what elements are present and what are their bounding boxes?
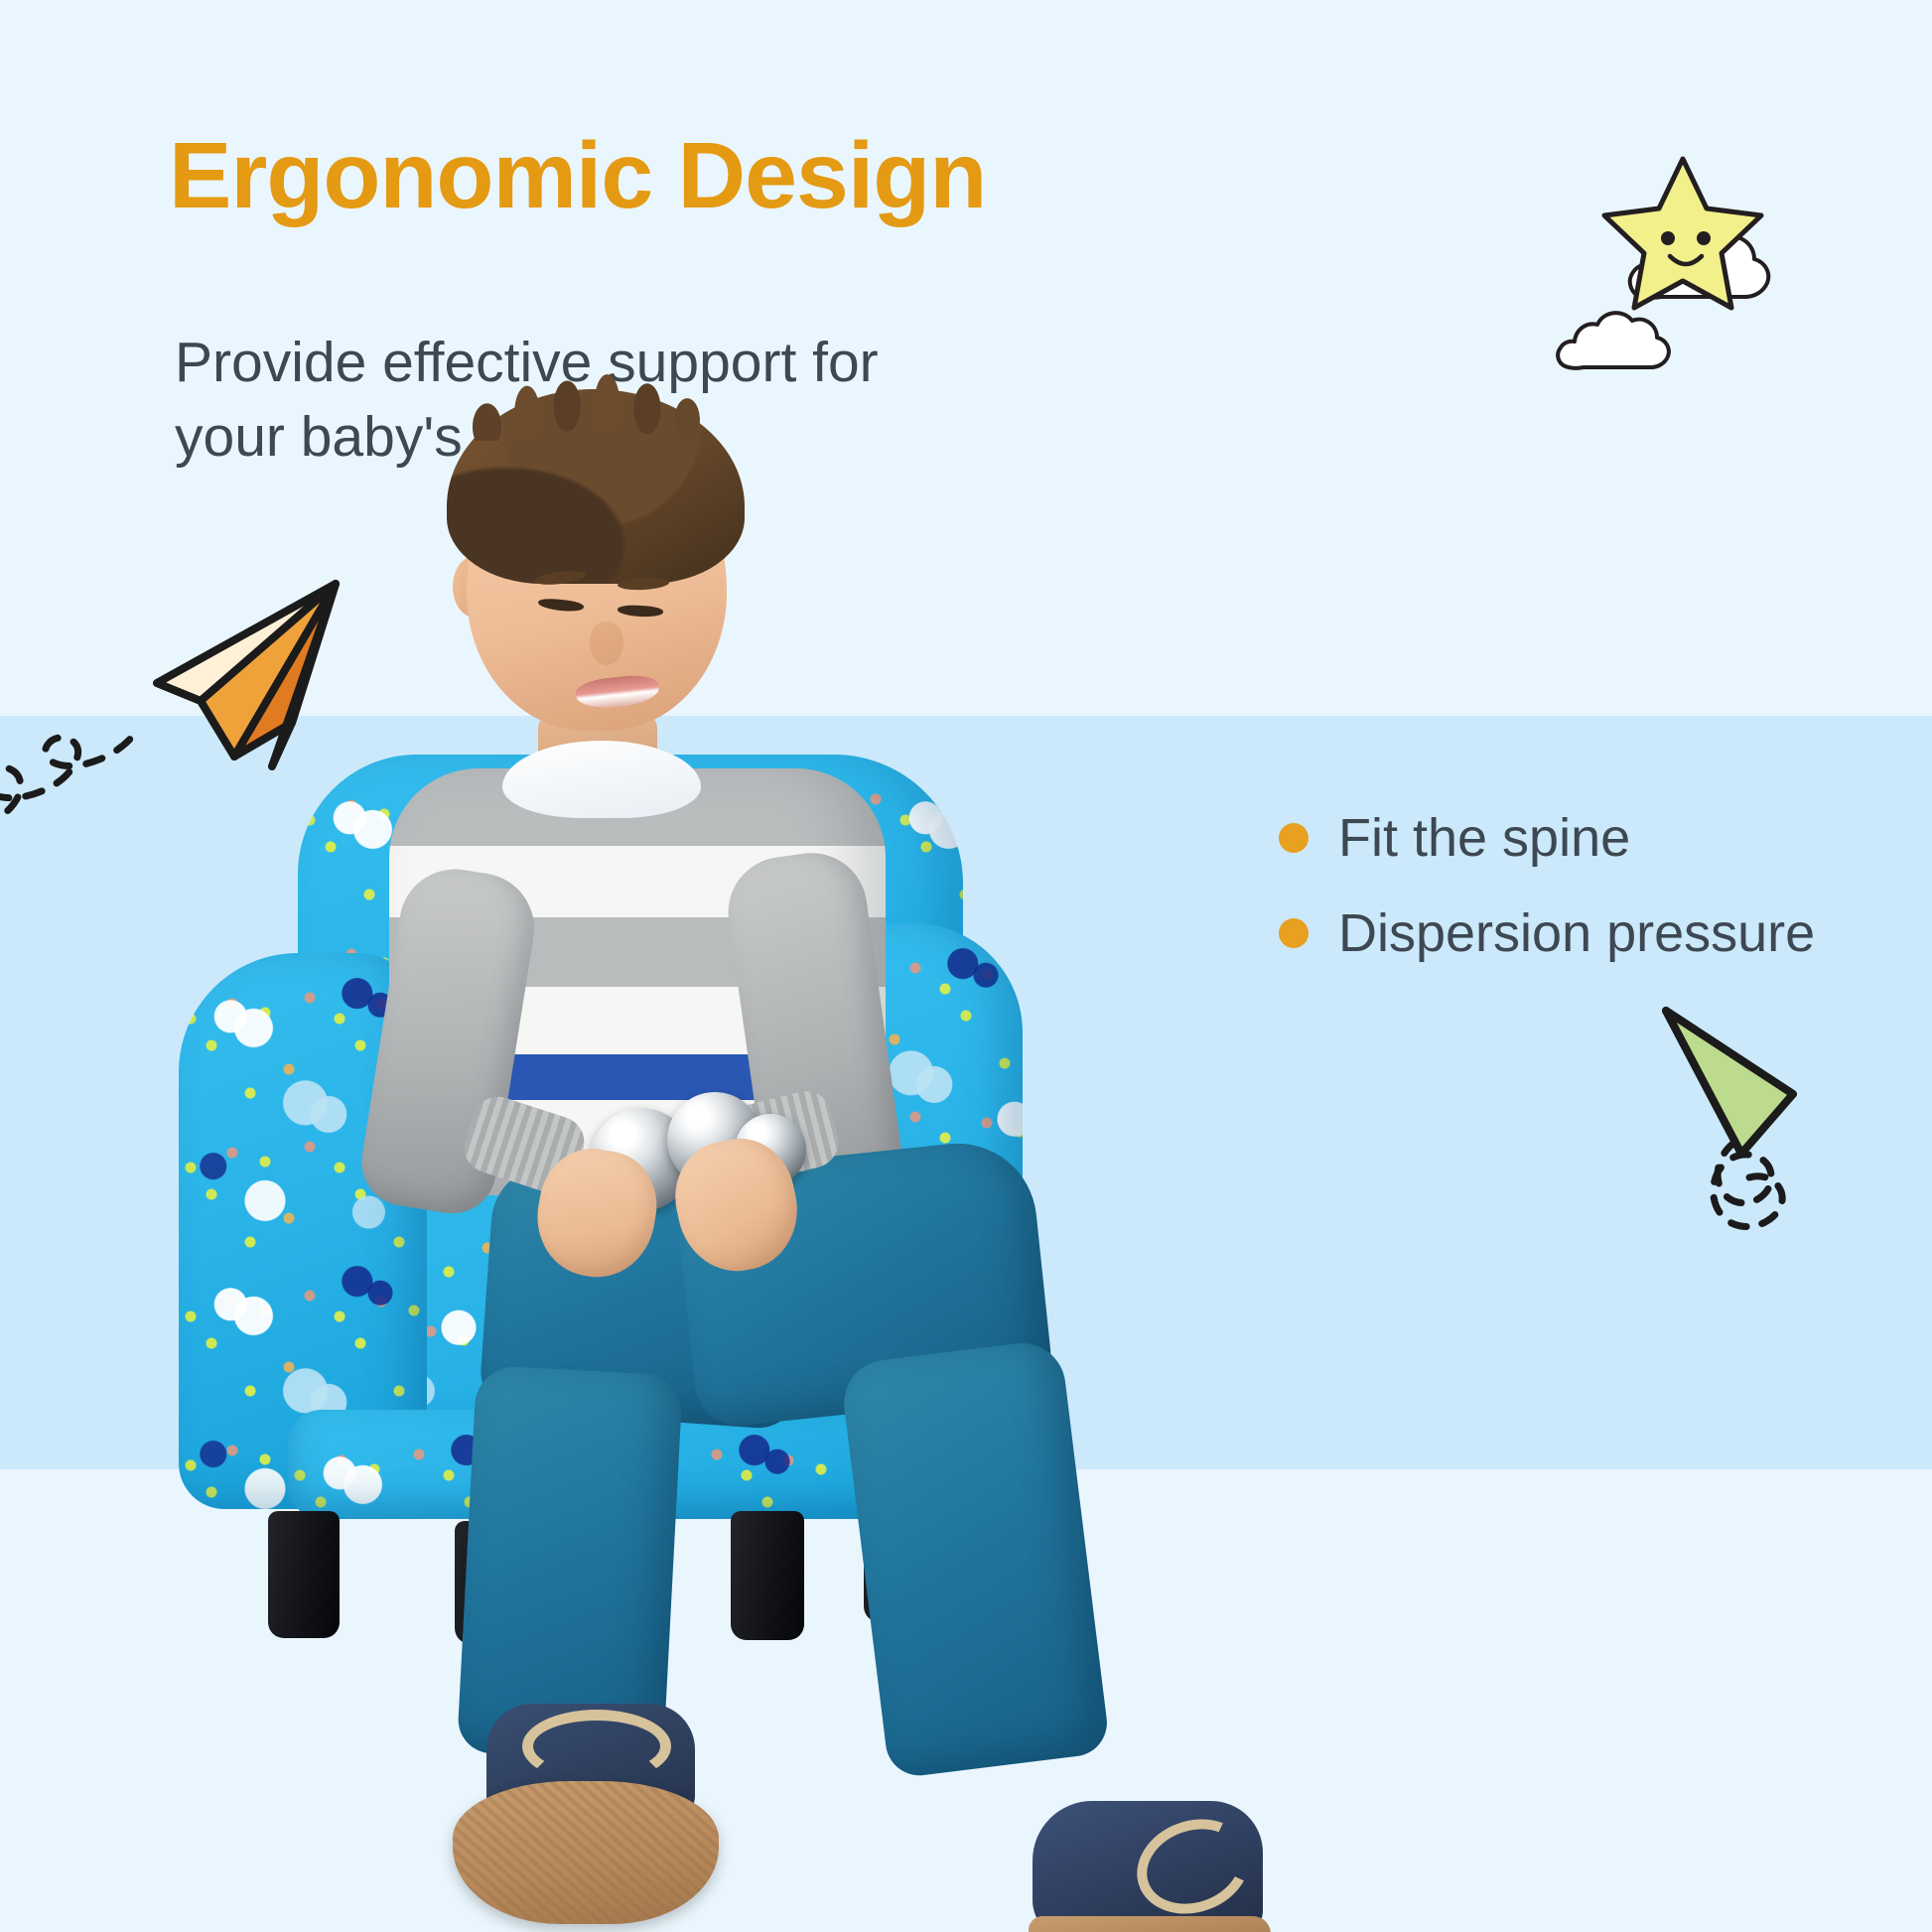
bullet-dot-icon <box>1279 823 1309 853</box>
star-cloud-doodle-icon <box>1549 139 1847 407</box>
list-item: Dispersion pressure <box>1279 886 1815 981</box>
child-shoe <box>453 1704 719 1924</box>
feature-label: Dispersion pressure <box>1338 902 1815 964</box>
list-item: Fit the spine <box>1279 790 1815 886</box>
feature-label: Fit the spine <box>1338 807 1630 869</box>
bullet-dot-icon <box>1279 918 1309 948</box>
green-paper-plane-doodle-icon <box>1628 993 1932 1261</box>
poster-canvas: Ergonomic Design Provide effective suppo… <box>0 0 1932 1932</box>
feature-list: Fit the spine Dispersion pressure <box>1279 790 1815 981</box>
child-shirt-collar <box>502 741 701 818</box>
product-photo <box>169 397 1281 1932</box>
child-nose <box>590 621 623 665</box>
child-figure <box>169 397 1281 1932</box>
shoe-sole <box>453 1781 719 1924</box>
shoe-lace <box>522 1710 671 1783</box>
child-shoe <box>1033 1795 1281 1932</box>
page-title: Ergonomic Design <box>169 127 986 226</box>
child-hair <box>447 389 745 584</box>
child-trouser-leg <box>839 1338 1111 1779</box>
shoe-sole <box>1029 1916 1271 1932</box>
